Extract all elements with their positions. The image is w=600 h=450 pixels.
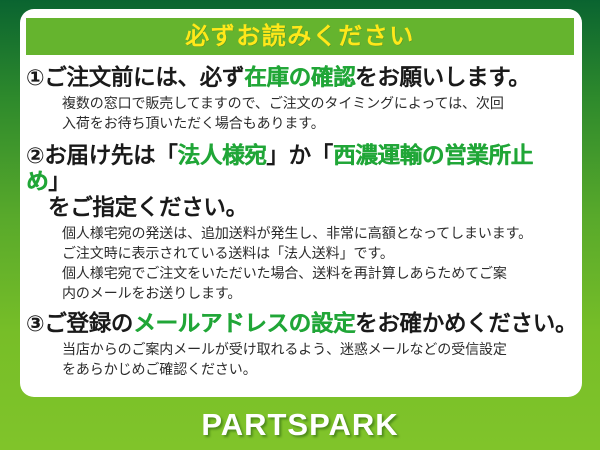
notice-item-3-number: ③ <box>26 311 44 337</box>
notice-banner: 必ずお読みください ①ご注文前には、必ず在庫の確認をお願いします。 複数の窓口で… <box>0 0 600 450</box>
notice-item-2-body-line-4: 内のメールをお送りします。 <box>62 283 576 303</box>
notice-item-2-head-pre: お届け先は <box>44 143 155 168</box>
notice-item-2-quote2-open: 「 <box>311 143 333 168</box>
notice-item-2-quote1-text: 法人様宛 <box>178 143 267 168</box>
notice-item-1-head-post: をお願いします。 <box>355 65 530 90</box>
notice-item-3-highlight: メールアドレスの設定 <box>133 311 355 336</box>
notice-item-1-head-pre: ご注文前には、必ず <box>44 65 244 90</box>
notice-item-2-body-line-2: ご注文時に表示されている送料は「法人送料」です。 <box>62 243 576 263</box>
notice-title-bar: 必ずお読みください <box>26 18 574 55</box>
notice-item-2-body-line-1: 個人様宅宛の発送は、追加送料が発生し、非常に高額となってしまいます。 <box>62 223 576 243</box>
notice-item-3-body-line-2: をあらかじめご確認ください。 <box>62 359 576 379</box>
notice-item-1: ①ご注文前には、必ず在庫の確認をお願いします。 複数の窓口で販売してますので、ご… <box>20 65 582 133</box>
notice-card: 必ずお読みください ①ご注文前には、必ず在庫の確認をお願いします。 複数の窓口で… <box>20 9 582 397</box>
notice-item-1-body: 複数の窓口で販売してますので、ご注文のタイミングによっては、次回 入荷をお待ち頂… <box>20 91 582 133</box>
notice-item-3-head-pre: ご登録の <box>44 311 133 336</box>
notice-footer: PARTSPARK <box>0 398 600 450</box>
notice-item-2: ②お届け先は「法人様宛」か「西濃運輸の営業所止め」 をご指定ください。 個人様宅… <box>20 143 582 303</box>
notice-item-2-quote1-open: 「 <box>155 143 177 168</box>
notice-item-3-heading: ③ご登録のメールアドレスの設定をお確かめください。 <box>20 311 582 337</box>
notice-item-1-number: ① <box>26 65 44 91</box>
notice-item-3-head-post: をお確かめください。 <box>355 311 577 336</box>
notice-item-3-body: 当店からのご案内メールが受け取れるよう、迷惑メールなどの受信設定 をあらかじめご… <box>20 337 582 379</box>
notice-items-list: ①ご注文前には、必ず在庫の確認をお願いします。 複数の窓口で販売してますので、ご… <box>20 65 582 381</box>
notice-item-2-head-mid: か <box>289 143 311 168</box>
notice-item-1-highlight: 在庫の確認 <box>244 65 355 90</box>
notice-item-1-body-line-2: 入荷をお待ち頂いただく場合もあります。 <box>62 113 576 133</box>
notice-item-3: ③ご登録のメールアドレスの設定をお確かめください。 当店からのご案内メールが受け… <box>20 311 582 379</box>
notice-item-3-body-line-1: 当店からのご案内メールが受け取れるよう、迷惑メールなどの受信設定 <box>62 339 576 359</box>
notice-item-2-body-line-3: 個人様宅宛でご注文をいただいた場合、送料を再計算しあらためてご案 <box>62 263 576 283</box>
notice-title: 必ずお読みください <box>185 25 415 49</box>
notice-item-2-quote1-close: 」 <box>266 143 288 168</box>
notice-item-2-heading-line-2: をご指定ください。 <box>26 195 576 221</box>
notice-item-2-heading: ②お届け先は「法人様宛」か「西濃運輸の営業所止め」 をご指定ください。 <box>20 143 582 221</box>
notice-item-2-quote2-close: 」 <box>48 169 70 194</box>
notice-item-2-body: 個人様宅宛の発送は、追加送料が発生し、非常に高額となってしまいます。 ご注文時に… <box>20 221 582 303</box>
notice-item-1-heading: ①ご注文前には、必ず在庫の確認をお願いします。 <box>20 65 582 91</box>
partspark-logo: PARTSPARK <box>201 409 398 440</box>
notice-item-1-body-line-1: 複数の窓口で販売してますので、ご注文のタイミングによっては、次回 <box>62 93 576 113</box>
notice-item-2-number: ② <box>26 143 44 169</box>
